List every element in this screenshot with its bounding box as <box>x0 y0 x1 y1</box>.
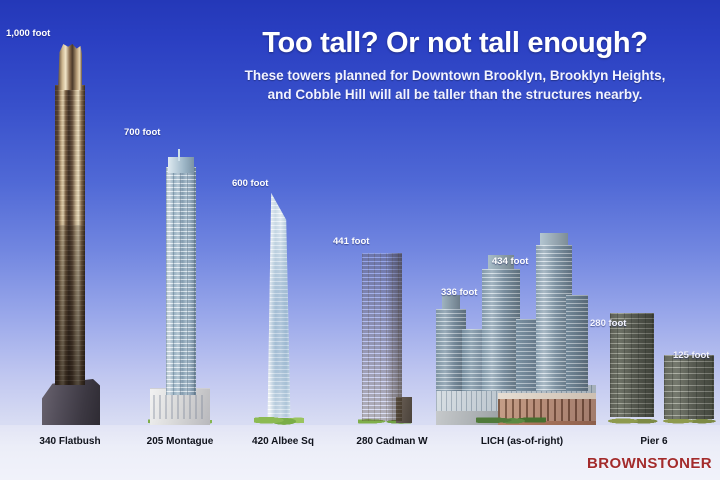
tower-crown <box>168 157 194 173</box>
tower-glass <box>566 295 588 391</box>
brownstoner-logo: BROWNSTONER <box>587 455 712 472</box>
subtitle-line-2: and Cobble Hill will all be taller than … <box>200 86 710 105</box>
subtitle-line-1: These towers planned for Downtown Brookl… <box>200 67 710 86</box>
height-label-pier6-short: 125 foot <box>673 350 709 361</box>
lich-brick-roofline <box>498 393 596 399</box>
building-205-montague <box>150 155 210 425</box>
height-label-lich-high: 434 foot <box>492 256 528 267</box>
tower-shadow-face <box>388 253 402 421</box>
tower-crown <box>58 44 82 90</box>
building-name-205-montague: 205 Montague <box>124 436 236 447</box>
building-name-lich: LICH (as-of-right) <box>452 436 592 447</box>
page-title: Too tall? Or not tall enough? <box>200 28 710 58</box>
height-label-280-cadman-w: 441 foot <box>333 236 369 247</box>
building-name-pier-6: Pier 6 <box>614 436 694 447</box>
height-label-340-flatbush: 1,000 foot <box>6 28 50 39</box>
tower-floor-banding <box>55 85 85 385</box>
headline-block: Too tall? Or not tall enough? These towe… <box>200 28 710 105</box>
tower-glass <box>482 269 520 391</box>
height-label-420-albee-sq: 600 foot <box>232 178 268 189</box>
landscaping <box>476 413 546 425</box>
building-lich-complex <box>436 253 596 425</box>
height-label-205-montague: 700 foot <box>124 127 160 138</box>
infographic-canvas: Too tall? Or not tall enough? These towe… <box>0 0 720 480</box>
page-subtitle: These towers planned for Downtown Brookl… <box>200 67 710 104</box>
pier6-short-facade-texture <box>664 355 714 419</box>
tower-mast <box>178 149 180 161</box>
lich-tower-c <box>482 269 520 391</box>
building-340-flatbush <box>42 40 100 425</box>
tower-glass-texture <box>264 193 294 417</box>
building-name-340-flatbush: 340 Flatbush <box>12 436 128 447</box>
lich-tower-d <box>516 319 538 391</box>
podium-windows <box>153 395 207 419</box>
lich-tower-f <box>566 295 588 391</box>
tower-glass <box>516 319 538 391</box>
tower-base <box>42 379 100 425</box>
height-label-lich-low: 336 foot <box>441 287 477 298</box>
lich-tower-e-setback <box>540 233 568 245</box>
building-pier-6 <box>610 313 716 425</box>
building-name-280-cadman-w: 280 Cadman W <box>336 436 448 447</box>
building-420-albee-sq <box>252 193 308 425</box>
building-name-420-albee-sq: 420 Albee Sq <box>228 436 338 447</box>
building-280-cadman-w <box>358 250 412 425</box>
height-label-pier6-tall: 280 foot <box>590 318 626 329</box>
tower-mullions <box>166 167 196 395</box>
